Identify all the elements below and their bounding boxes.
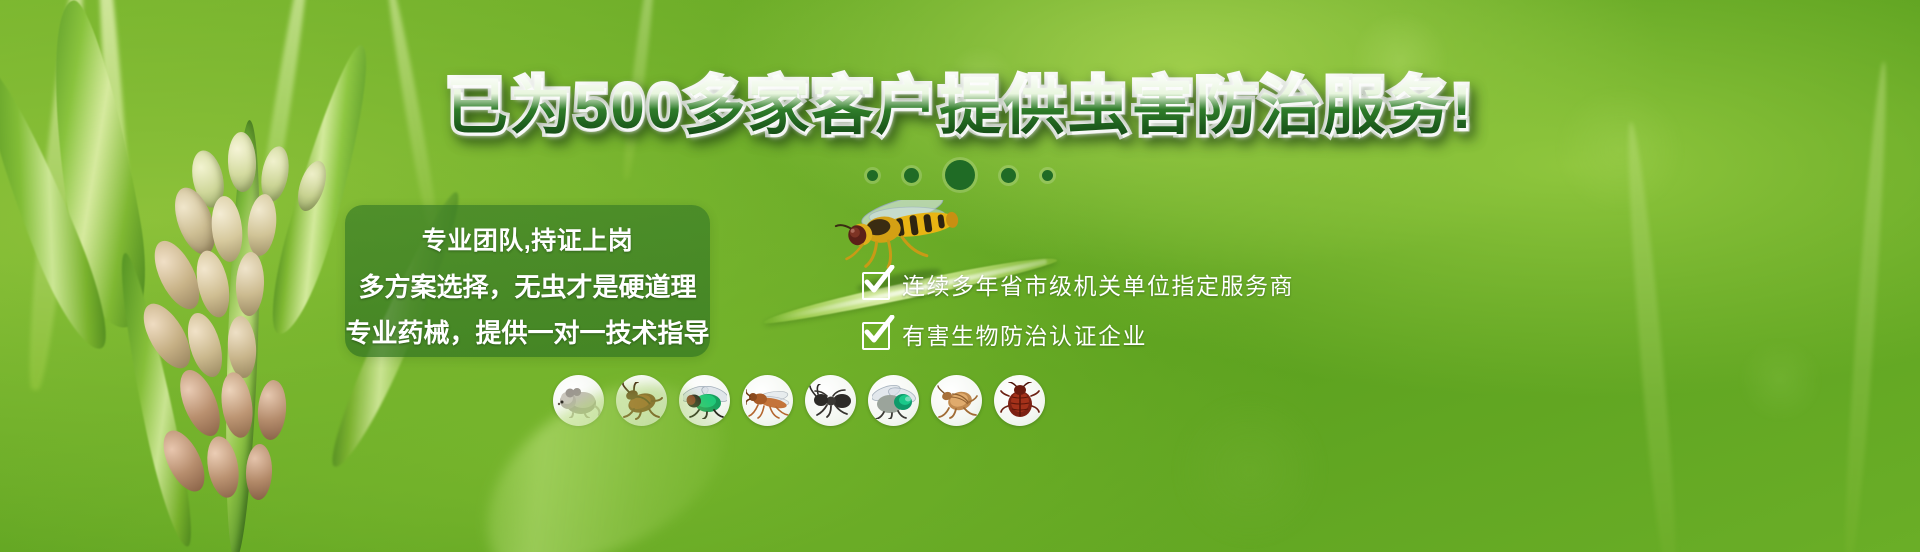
claim-line-1: 专业团队,持证上岗 [345,221,710,257]
flea-icon [931,375,982,426]
dot-small-left [867,170,878,181]
decorative-dots [0,160,1920,190]
checklist-label: 有害生物防治认证企业 [902,323,1147,349]
claim-line-2: 多方案选择，无虫才是硬道理 [330,267,725,304]
checkbox-checked-icon [862,272,890,300]
dot-large-center [945,160,975,190]
dot-small-right [1042,170,1053,181]
pest-control-banner: 已为500多家客户提供虫害防治服务! 已为500多家客户提供虫害防治服务! 专业… [0,0,1920,552]
checkbox-checked-icon [862,322,890,350]
claim-line-3: 专业药械，提供一对一技术指导 [325,313,730,350]
dot-medium-left [904,168,919,183]
ant-icon [805,375,856,426]
bedbug-icon [994,375,1045,426]
checklist-item: 有害生物防治认证企业 [862,322,1322,350]
dot-medium-right [1001,168,1016,183]
mosquito-icon [742,375,793,426]
certification-checklist: 连续多年省市级机关单位指定服务商 有害生物防治认证企业 [862,272,1322,372]
greenbottle-fly-icon [868,375,919,426]
page-title: 已为500多家客户提供虫害防治服务! [0,72,1920,144]
checklist-item: 连续多年省市级机关单位指定服务商 [862,272,1322,300]
checklist-label: 连续多年省市级机关单位指定服务商 [902,273,1294,299]
